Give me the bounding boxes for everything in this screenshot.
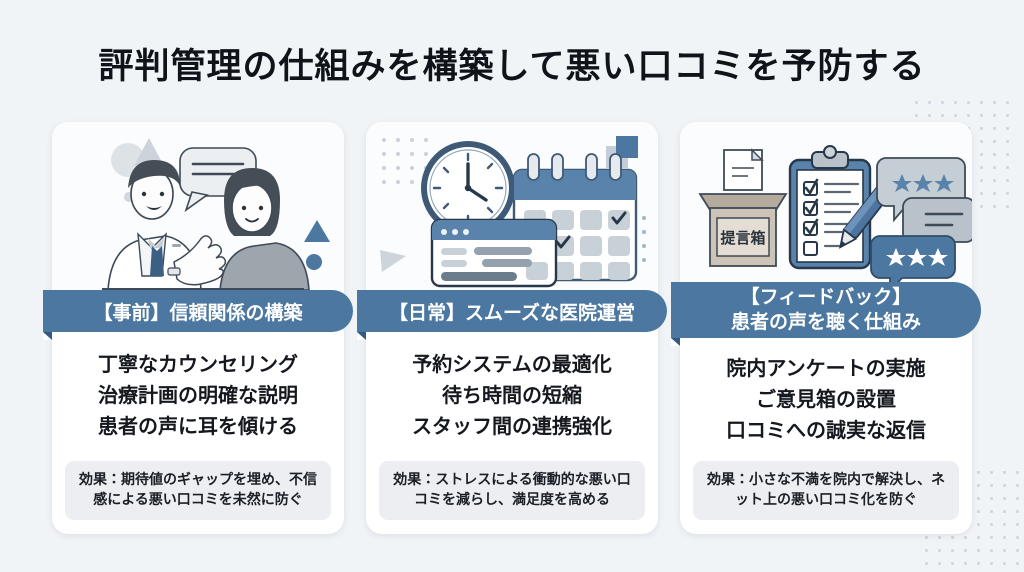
- card-feedback-system: 提言箱: [680, 122, 972, 534]
- card-3-effect: 効果：小さな不満を院内で解決し、ネット上の悪い口コミ化を防ぐ: [693, 461, 959, 520]
- ribbon-fold: [43, 332, 52, 340]
- card-1-point-3: 患者の声に耳を傾ける: [52, 412, 344, 443]
- card-row: 【事前】信頼関係の構築 丁寧なカウンセリング 治療計画の明確な説明 患者の声に耳…: [0, 122, 1024, 534]
- card-1-point-2: 治療計画の明確な説明: [52, 381, 344, 412]
- card-2-effect: 効果：ストレスによる衝動的な悪い口コミを減らし、満足度を高める: [379, 461, 645, 520]
- card-banner-3-line-1: 【フィードバック】: [731, 285, 921, 310]
- ribbon-fold: [671, 338, 680, 346]
- card-3-points: 院内アンケートの実施 ご意見箱の設置 口コミへの誠実な返信: [680, 354, 972, 447]
- illustration-feedback: 提言箱: [680, 122, 972, 290]
- illustration-doctor-patient: [52, 122, 344, 290]
- card-2-point-1: 予約システムの最適化: [366, 350, 658, 381]
- card-2-points: 予約システムの最適化 待ち時間の短縮 スタッフ間の連携強化: [366, 350, 658, 443]
- suggestion-box-label: 提言箱: [720, 229, 765, 247]
- ribbon-fold: [357, 332, 366, 340]
- card-3-point-3: 口コミへの誠実な返信: [680, 416, 972, 447]
- clock-calendar-booking-icon: [366, 122, 658, 290]
- page-title: 評判管理の仕組みを構築して悪い口コミを予防する: [0, 38, 1024, 89]
- card-2-point-3: スタッフ間の連携強化: [366, 412, 658, 443]
- card-daily-operations: 【日常】スムーズな医院運営 予約システムの最適化 待ち時間の短縮 スタッフ間の連…: [366, 122, 658, 534]
- illustration-clock-calendar: [366, 122, 658, 290]
- card-3-point-1: 院内アンケートの実施: [680, 354, 972, 385]
- card-2-point-2: 待ち時間の短縮: [366, 381, 658, 412]
- card-banner-3-label: 【フィードバック】 患者の声を聴く仕組み: [731, 285, 921, 335]
- card-banner-2-label: 【日常】スムーズな医院運営: [389, 298, 635, 325]
- card-banner-1: 【事前】信頼関係の構築: [43, 290, 353, 332]
- card-banner-3: 【フィードバック】 患者の声を聴く仕組み: [671, 282, 981, 338]
- card-1-points: 丁寧なカウンセリング 治療計画の明確な説明 患者の声に耳を傾ける: [52, 350, 344, 443]
- doctor-patient-counseling-icon: [52, 122, 344, 290]
- card-1-point-1: 丁寧なカウンセリング: [52, 350, 344, 381]
- card-banner-3-line-2: 患者の声を聴く仕組み: [731, 310, 921, 335]
- suggestion-box-clipboard-review-icon: 提言箱: [680, 122, 972, 290]
- card-1-effect: 効果：期待値のギャップを埋め、不信感による悪い口コミを未然に防ぐ: [65, 461, 331, 520]
- card-banner-2: 【日常】スムーズな医院運営: [357, 290, 667, 332]
- card-3-point-2: ご意見箱の設置: [680, 385, 972, 416]
- card-banner-1-label: 【事前】信頼関係の構築: [93, 298, 302, 325]
- card-prevention-trust: 【事前】信頼関係の構築 丁寧なカウンセリング 治療計画の明確な説明 患者の声に耳…: [52, 122, 344, 534]
